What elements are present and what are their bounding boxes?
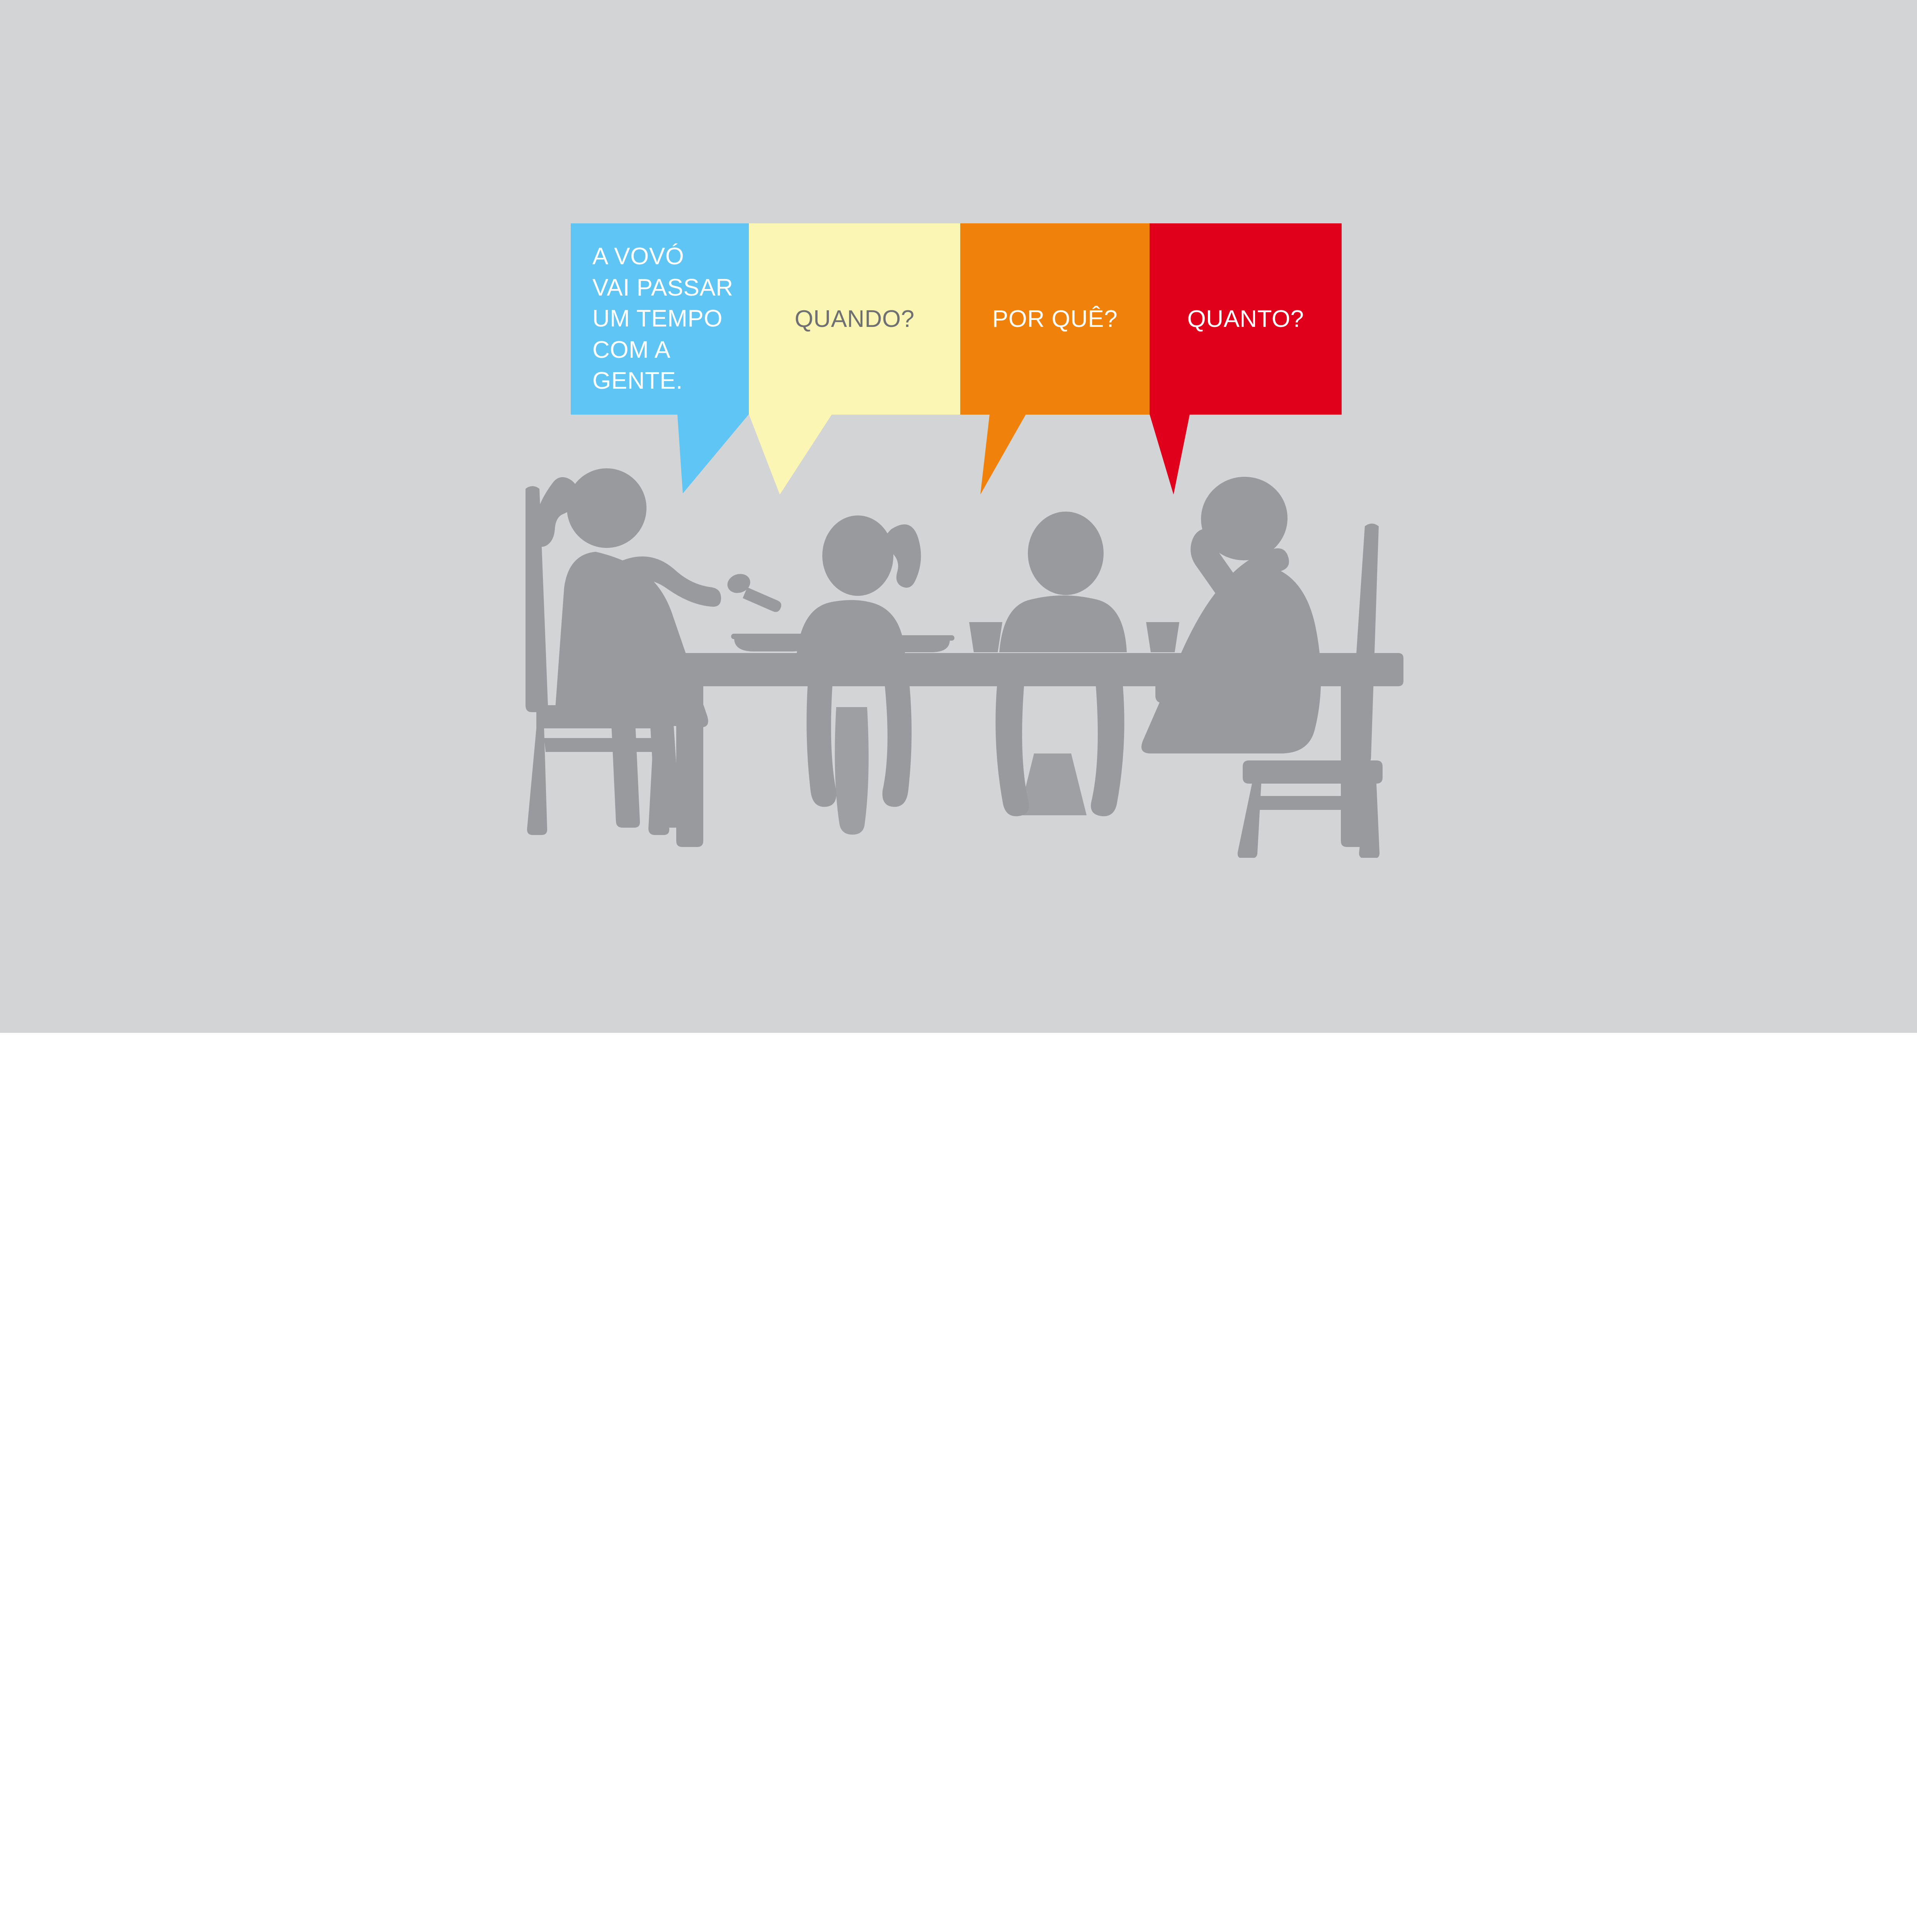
- bubble-blue-line-3: UM TEMPO: [592, 303, 749, 335]
- speech-bubble-red: QUANTO?: [1150, 223, 1342, 415]
- bubble-blue-line-1: A VOVÓ: [592, 241, 749, 272]
- bubble-orange-text: POR QUÊ?: [960, 223, 1150, 415]
- footer-bar: Touareg com ar-condicionado 4 zonas. Cad…: [0, 1033, 1917, 1278]
- bubble-orange-tail: [960, 414, 1150, 495]
- bubble-blue-line-4: COM A GENTE.: [592, 335, 749, 397]
- bubble-blue-line-2: VAI PASSAR: [592, 272, 749, 304]
- speech-bubble-orange: POR QUÊ?: [960, 223, 1150, 415]
- speech-bubble-blue: A VOVÓ VAI PASSAR UM TEMPO COM A GENTE.: [571, 223, 749, 415]
- bubble-blue-text: A VOVÓ VAI PASSAR UM TEMPO COM A GENTE.: [571, 223, 749, 415]
- speech-bubble-group: A VOVÓ VAI PASSAR UM TEMPO COM A GENTE. …: [571, 223, 1342, 494]
- bubble-yellow-tail: [749, 414, 960, 495]
- figure-father: [1141, 471, 1321, 753]
- bubble-red-tail: [1150, 414, 1342, 495]
- family-illustration: [495, 460, 1422, 858]
- speech-bubble-yellow: QUANDO?: [749, 223, 960, 415]
- bubble-red-text: QUANTO?: [1150, 223, 1342, 415]
- bubble-blue-tail: [571, 414, 749, 495]
- ad-canvas: A VOVÓ VAI PASSAR UM TEMPO COM A GENTE. …: [0, 0, 1917, 1278]
- scene-panel: A VOVÓ VAI PASSAR UM TEMPO COM A GENTE. …: [0, 0, 1917, 1033]
- bubble-yellow-text: QUANDO?: [749, 223, 960, 415]
